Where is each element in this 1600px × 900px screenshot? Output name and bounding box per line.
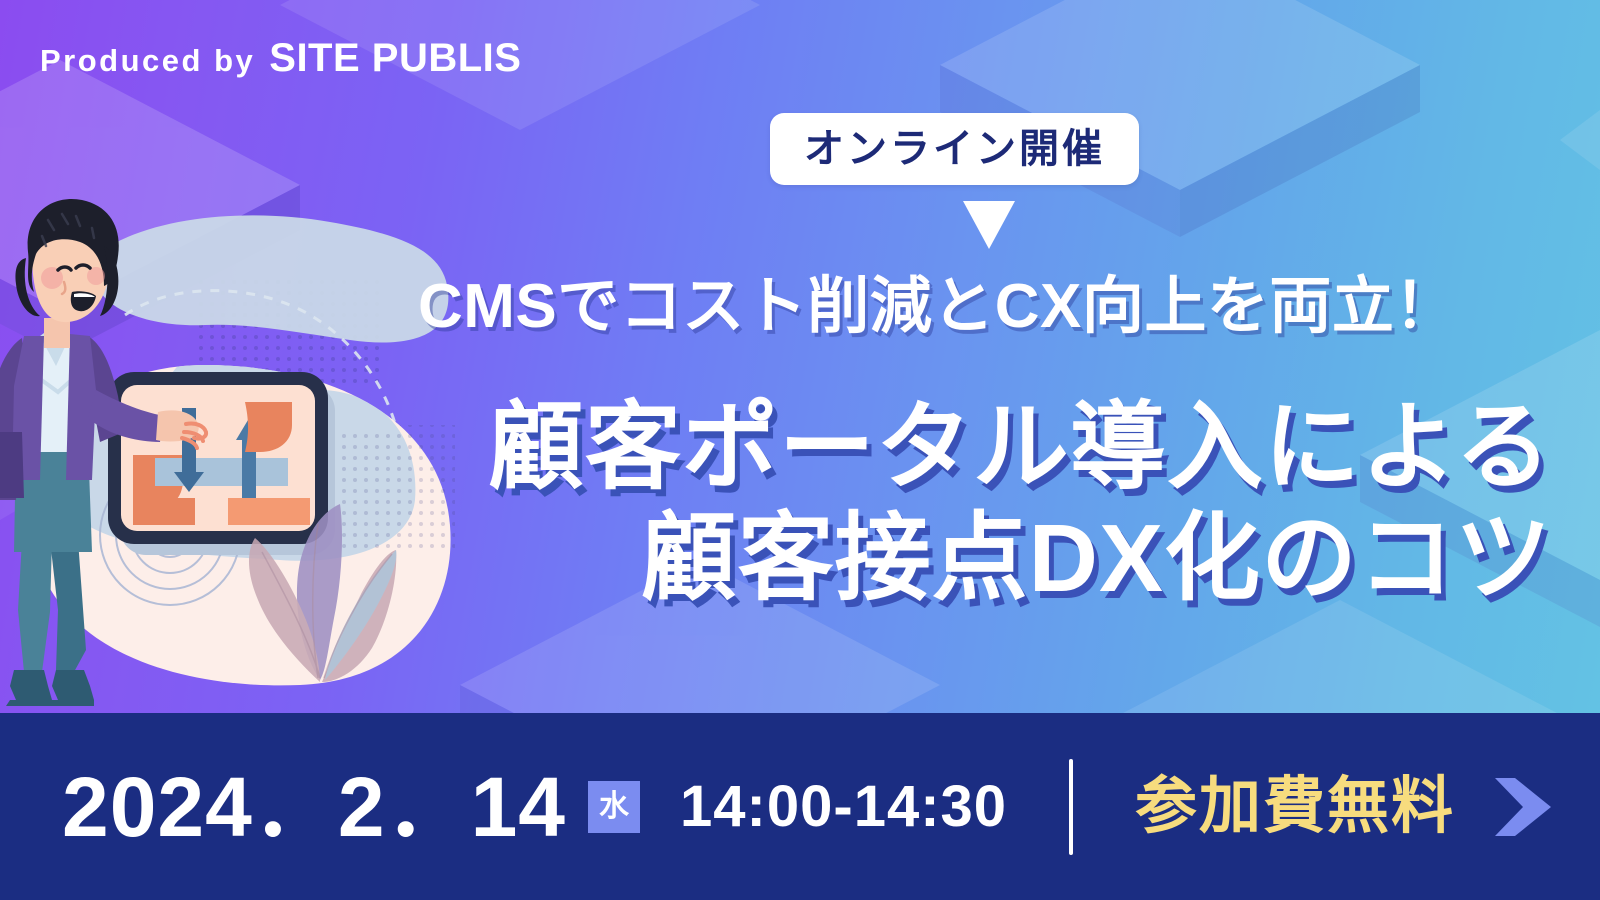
main-title-line-2: 顧客接点DX化のコツ <box>0 503 1552 614</box>
free-admission-label: 参加費無料 <box>1135 776 1455 838</box>
produced-by-label: Produced by <box>40 43 255 79</box>
event-footer-bar: 2024．2．14 水 14:00-14:30 参加費無料 <box>0 713 1600 900</box>
chevron-right-icon[interactable] <box>1489 772 1557 842</box>
footer-divider <box>1069 759 1073 855</box>
event-time: 14:00-14:30 <box>680 778 1007 836</box>
badge-tail-pointer <box>963 201 1015 249</box>
chevron-right-icon-svg <box>1489 772 1557 842</box>
sub-title: CMSでコスト削減とCX向上を両立！ <box>418 276 1457 338</box>
producer-logo: Produced by SITE PUBLIS <box>40 36 521 81</box>
online-event-badge: オンライン開催 <box>770 113 1139 185</box>
brand-name: SITE PUBLIS <box>269 36 521 81</box>
main-title: 顧客ポータル導入による 顧客接点DX化のコツ <box>0 392 1600 615</box>
online-event-badge-label: オンライン開催 <box>770 113 1139 185</box>
webinar-banner: Produced by SITE PUBLIS オンライン開催 CMSでコスト削… <box>0 0 1600 900</box>
event-day-of-week-badge: 水 <box>588 781 640 833</box>
main-title-line-1: 顧客ポータル導入による <box>488 394 1552 501</box>
event-date: 2024．2．14 <box>62 765 566 849</box>
